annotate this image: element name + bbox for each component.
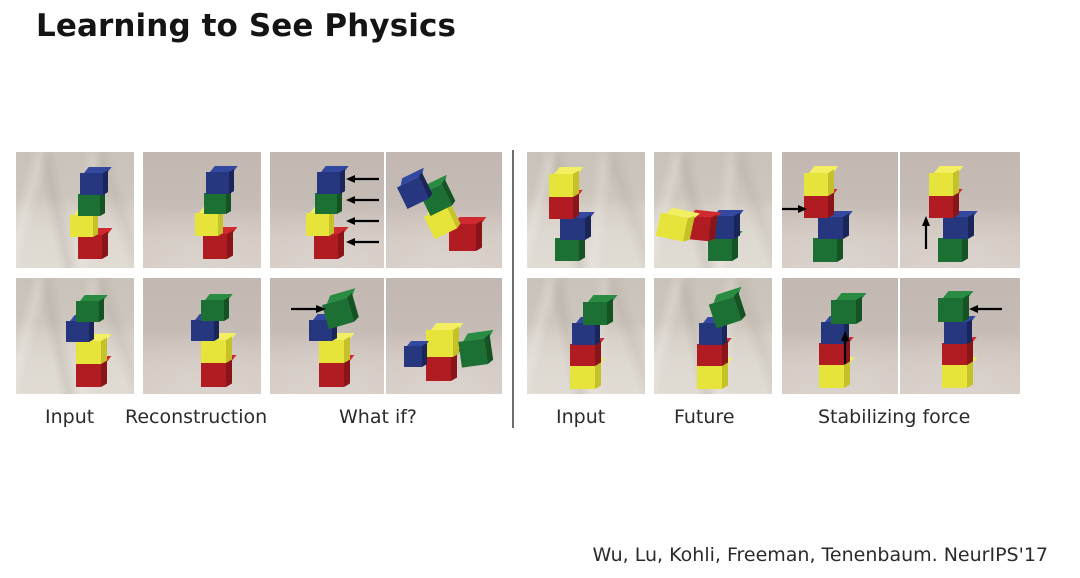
right-row2-stabilizing-a-panel (782, 278, 898, 394)
block-scene (143, 278, 261, 394)
cube-face-side (226, 359, 232, 387)
cube-face-side (953, 192, 959, 218)
caption-left-input: Input (45, 406, 94, 428)
right-row1-future-panel (654, 152, 772, 268)
cube-face-side (226, 337, 232, 363)
cube-face-front (426, 356, 451, 381)
cube-green (708, 238, 732, 261)
left-row2-whatif-result-panel (386, 278, 502, 394)
right-row1-input-panel (527, 152, 645, 268)
cube-blue (317, 172, 340, 194)
left-row1-reconstruction-panel (143, 152, 261, 268)
cube-face-top (809, 166, 838, 173)
cube-face-front (191, 320, 214, 341)
cube-face-front (317, 172, 340, 194)
cube-face-side (843, 214, 849, 239)
cube-face-front (549, 196, 573, 219)
cube-face-front (555, 238, 579, 261)
cube-green (315, 193, 337, 214)
block-scene (654, 278, 772, 394)
right-row1-stabilizing-b-panel (900, 152, 1020, 268)
block-scene (900, 152, 1020, 268)
block-scene (270, 278, 384, 394)
block-scene (654, 152, 772, 268)
cube-blue (66, 321, 89, 342)
cube-face-side (828, 192, 834, 218)
cube-face-front (697, 365, 722, 389)
cube-face-front (697, 344, 722, 366)
cube-face-side (344, 337, 350, 363)
cube-face-front (426, 330, 453, 357)
cube-face-front (201, 340, 226, 363)
cube-face-front (66, 321, 89, 342)
cube-face-front (203, 234, 227, 259)
force-arrow-right-icon (290, 304, 326, 314)
cube-face-front (944, 322, 967, 344)
cube-blue (572, 323, 595, 345)
cube-yellow (426, 330, 453, 357)
cube-face-front (938, 238, 962, 262)
block-scene (782, 152, 898, 268)
cube-face-front (306, 213, 329, 236)
cube-yellow (819, 364, 844, 388)
cube-face-front (938, 298, 963, 322)
cube-green (322, 298, 354, 329)
cube-red (314, 234, 338, 259)
block-scene (16, 278, 134, 394)
cube-face-front (319, 362, 344, 387)
cube-yellow (549, 174, 573, 197)
cube-red (426, 356, 451, 381)
cube-red (76, 363, 101, 387)
cube-face-side (595, 362, 601, 389)
cube-green (76, 301, 99, 322)
caption-right-input: Input (556, 406, 605, 428)
cube-face-side (338, 231, 344, 259)
block-scene (527, 278, 645, 394)
cube-face-front (404, 346, 422, 367)
cube-face-front (560, 218, 585, 240)
cube-red (201, 362, 226, 387)
cube-face-front (819, 364, 844, 388)
force-arrow-up-icon (921, 216, 931, 250)
cube-face-front (319, 340, 344, 363)
cube-red (319, 362, 344, 387)
cube-face-front (80, 173, 103, 195)
cube-face-front (458, 338, 487, 367)
cube-face-front (929, 173, 953, 196)
cube-yellow (319, 340, 344, 363)
force-arrow-left-icon (346, 216, 380, 226)
cube-face-front (804, 195, 828, 218)
cube-red (549, 196, 573, 219)
cube-face-front (708, 238, 732, 261)
cube-face-front (813, 238, 837, 262)
force-arrow-right-icon (782, 204, 807, 214)
cube-face-front (570, 344, 595, 366)
cube-face-front (549, 174, 573, 197)
force-arrow-left-icon (346, 195, 380, 205)
physics-figure: Input Reconstruction What if? Input Futu… (0, 0, 1080, 578)
cube-face-side (422, 343, 427, 367)
attribution-text: Wu, Lu, Kohli, Freeman, Tenenbaum. NeurI… (593, 544, 1048, 566)
cube-face-front (831, 300, 856, 324)
cube-face-side (585, 215, 591, 240)
left-row1-whatif-result-panel (386, 152, 502, 268)
cube-yellow (942, 364, 967, 388)
cube-face-front (929, 195, 953, 218)
cube-red (929, 195, 953, 218)
cube-face-side (722, 362, 728, 389)
cube-face-front (942, 343, 967, 365)
cube-face-side (856, 297, 862, 324)
caption-right-stabilizing: Stabilizing force (818, 406, 970, 428)
cube-green (555, 238, 579, 261)
right-row2-input-panel (527, 278, 645, 394)
cube-red (942, 343, 967, 365)
cube-yellow (76, 341, 101, 364)
cube-red (804, 195, 828, 218)
cube-red (570, 344, 595, 366)
cube-face-front (315, 193, 337, 214)
cube-face-side (828, 170, 834, 196)
force-arrow-left-icon (346, 237, 380, 247)
cube-face-top (588, 295, 617, 302)
cube-face-front (943, 217, 968, 239)
cube-face-side (227, 231, 233, 259)
cube-yellow (306, 213, 329, 236)
left-row2-input-panel (16, 278, 134, 394)
caption-right-future: Future (674, 406, 735, 428)
cube-green (458, 338, 487, 367)
cube-green (938, 298, 963, 322)
cube-red (203, 234, 227, 259)
cube-red (697, 344, 722, 366)
force-arrow-left-icon (346, 174, 380, 184)
cube-face-side (968, 214, 974, 239)
cube-yellow (656, 212, 688, 241)
cube-yellow (929, 173, 953, 196)
left-row1-whatif-force-panel (270, 152, 384, 268)
cube-face-front (195, 213, 218, 236)
cube-blue (943, 217, 968, 239)
cube-face-front (818, 217, 843, 239)
cube-face-side (102, 232, 108, 259)
cube-face-front (804, 173, 828, 196)
cube-face-front (583, 302, 607, 325)
caption-left-reconstruction: Reconstruction (125, 406, 267, 428)
cube-yellow (201, 340, 226, 363)
cube-blue (818, 217, 843, 239)
cube-face-side (953, 170, 959, 196)
cube-face-side (340, 169, 345, 194)
cube-face-front (201, 300, 224, 321)
cube-face-front (942, 364, 967, 388)
right-row1-stabilizing-a-panel (782, 152, 898, 268)
block-scene (782, 278, 898, 394)
cube-face-side (101, 360, 107, 387)
cube-blue (944, 322, 967, 344)
cube-face-front (201, 362, 226, 387)
left-row2-whatif-force-panel (270, 278, 384, 394)
cube-green (583, 302, 607, 325)
cube-face-front (76, 363, 101, 387)
cube-face-front (570, 365, 595, 389)
right-row2-stabilizing-b-panel (900, 278, 1020, 394)
left-row2-reconstruction-panel (143, 278, 261, 394)
cube-face-side (967, 361, 973, 388)
cube-face-side (99, 298, 104, 322)
cube-yellow (570, 365, 595, 389)
cube-face-front (204, 193, 226, 214)
force-arrow-up-icon (840, 331, 850, 365)
cube-face-front (206, 172, 229, 194)
cube-face-side (573, 193, 579, 219)
group-divider (512, 150, 514, 428)
cube-face-side (344, 359, 350, 387)
cube-face-front (572, 323, 595, 345)
cube-blue (206, 172, 229, 194)
block-scene (143, 152, 261, 268)
cube-blue (191, 320, 214, 341)
block-scene (900, 278, 1020, 394)
cube-yellow (195, 213, 218, 236)
cube-face-side (103, 170, 108, 195)
cube-green (813, 238, 837, 262)
cube-face-top (934, 166, 963, 173)
cube-blue (404, 346, 422, 367)
block-scene (527, 152, 645, 268)
cube-green (204, 193, 226, 214)
cube-face-side (734, 213, 740, 239)
cube-face-front (78, 235, 102, 259)
cube-face-side (224, 297, 229, 321)
cube-yellow (70, 215, 93, 237)
cube-blue (80, 173, 103, 195)
block-scene (386, 152, 502, 268)
left-row1-input-panel (16, 152, 134, 268)
right-row2-future-panel (654, 278, 772, 394)
cube-face-side (967, 319, 972, 344)
cube-face-side (229, 169, 234, 194)
cube-face-front (314, 234, 338, 259)
caption-left-whatif: What if? (339, 406, 417, 428)
cube-face-front (76, 301, 99, 322)
block-scene (270, 152, 384, 268)
block-scene (386, 278, 502, 394)
cube-green (831, 300, 856, 324)
cube-yellow (697, 365, 722, 389)
cube-red (78, 235, 102, 259)
cube-green (78, 194, 100, 216)
cube-face-side (101, 338, 107, 364)
cube-face-top (554, 167, 583, 174)
cube-green (201, 300, 224, 321)
cube-face-side (607, 299, 613, 325)
block-scene (16, 152, 134, 268)
force-arrow-left-icon (969, 304, 1003, 314)
cube-yellow (804, 173, 828, 196)
cube-face-front (78, 194, 100, 216)
cube-face-side (476, 221, 482, 251)
cube-face-side (573, 171, 579, 197)
cube-blue (560, 218, 585, 240)
cube-face-front (70, 215, 93, 237)
cube-face-front (76, 341, 101, 364)
cube-green (938, 238, 962, 262)
